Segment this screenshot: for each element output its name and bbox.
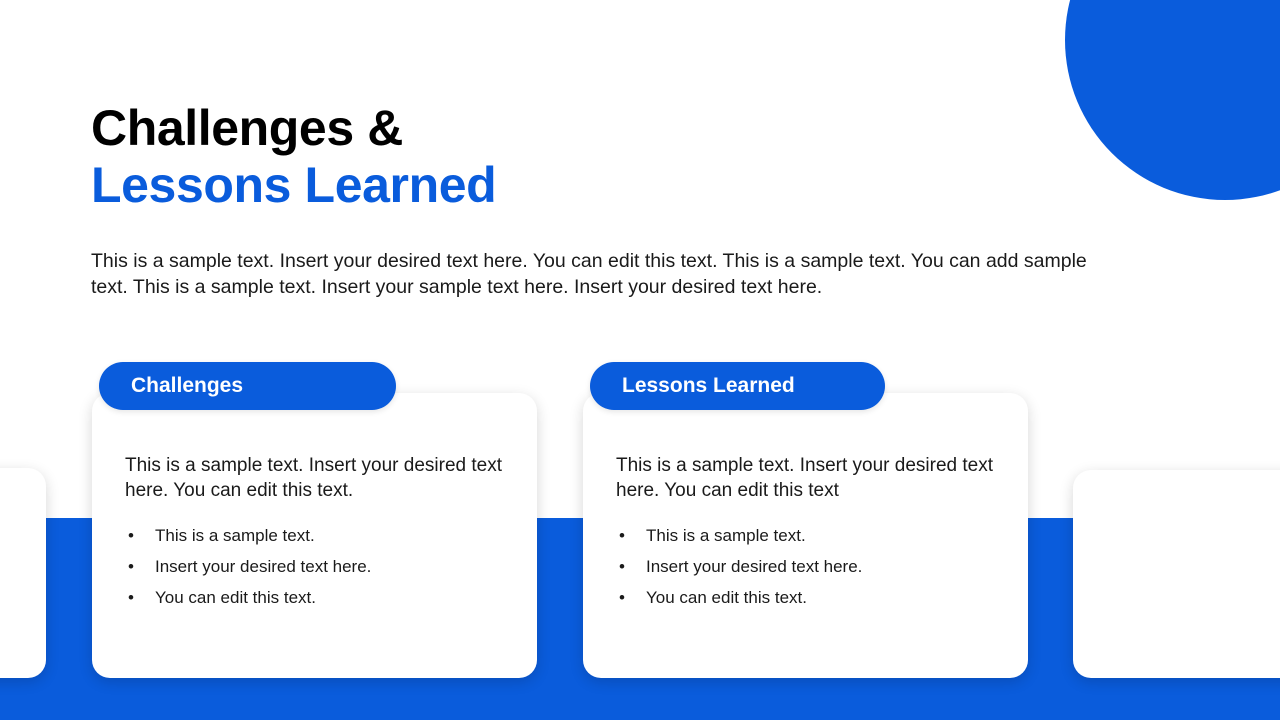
bullet-icon: • [619,525,625,547]
card-lessons-learned-intro: This is a sample text. Insert your desir… [616,453,1002,503]
list-item: • This is a sample text. [125,525,511,547]
bullet-icon: • [128,587,134,609]
card-partial-right [1073,470,1280,678]
bullet-icon: • [128,525,134,547]
list-item: • Insert your desired text here. [125,556,511,578]
badge-lessons-learned[interactable]: Lessons Learned [590,362,885,410]
list-item: • You can edit this text. [616,587,1002,609]
card-challenges-body: This is a sample text. Insert your desir… [125,453,511,618]
list-item: • Insert your desired text here. [616,556,1002,578]
card-lessons-learned[interactable]: This is a sample text. Insert your desir… [583,393,1028,678]
badge-challenges[interactable]: Challenges [99,362,396,410]
decorative-circle-top-right [1065,0,1280,200]
card-challenges[interactable]: This is a sample text. Insert your desir… [92,393,537,678]
title-line-accent: Lessons Learned [91,157,496,214]
list-item-label: This is a sample text. [646,526,806,545]
page-title: Challenges & Lessons Learned [91,100,496,214]
list-item-label: Insert your desired text here. [155,557,371,576]
card-lessons-learned-body: This is a sample text. Insert your desir… [616,453,1002,618]
slide-canvas: Challenges & Lessons Learned This is a s… [0,0,1280,720]
intro-paragraph: This is a sample text. Insert your desir… [91,248,1091,300]
list-item-label: This is a sample text. [155,526,315,545]
card-partial-left [0,468,46,678]
list-item: • This is a sample text. [616,525,1002,547]
title-line-primary: Challenges & [91,100,496,157]
list-item-label: Insert your desired text here. [646,557,862,576]
list-item: • You can edit this text. [125,587,511,609]
list-item-label: You can edit this text. [155,588,316,607]
bullet-icon: • [619,587,625,609]
card-lessons-learned-list: • This is a sample text. • Insert your d… [616,525,1002,609]
card-challenges-list: • This is a sample text. • Insert your d… [125,525,511,609]
card-challenges-intro: This is a sample text. Insert your desir… [125,453,511,503]
bullet-icon: • [619,556,625,578]
list-item-label: You can edit this text. [646,588,807,607]
bullet-icon: • [128,556,134,578]
